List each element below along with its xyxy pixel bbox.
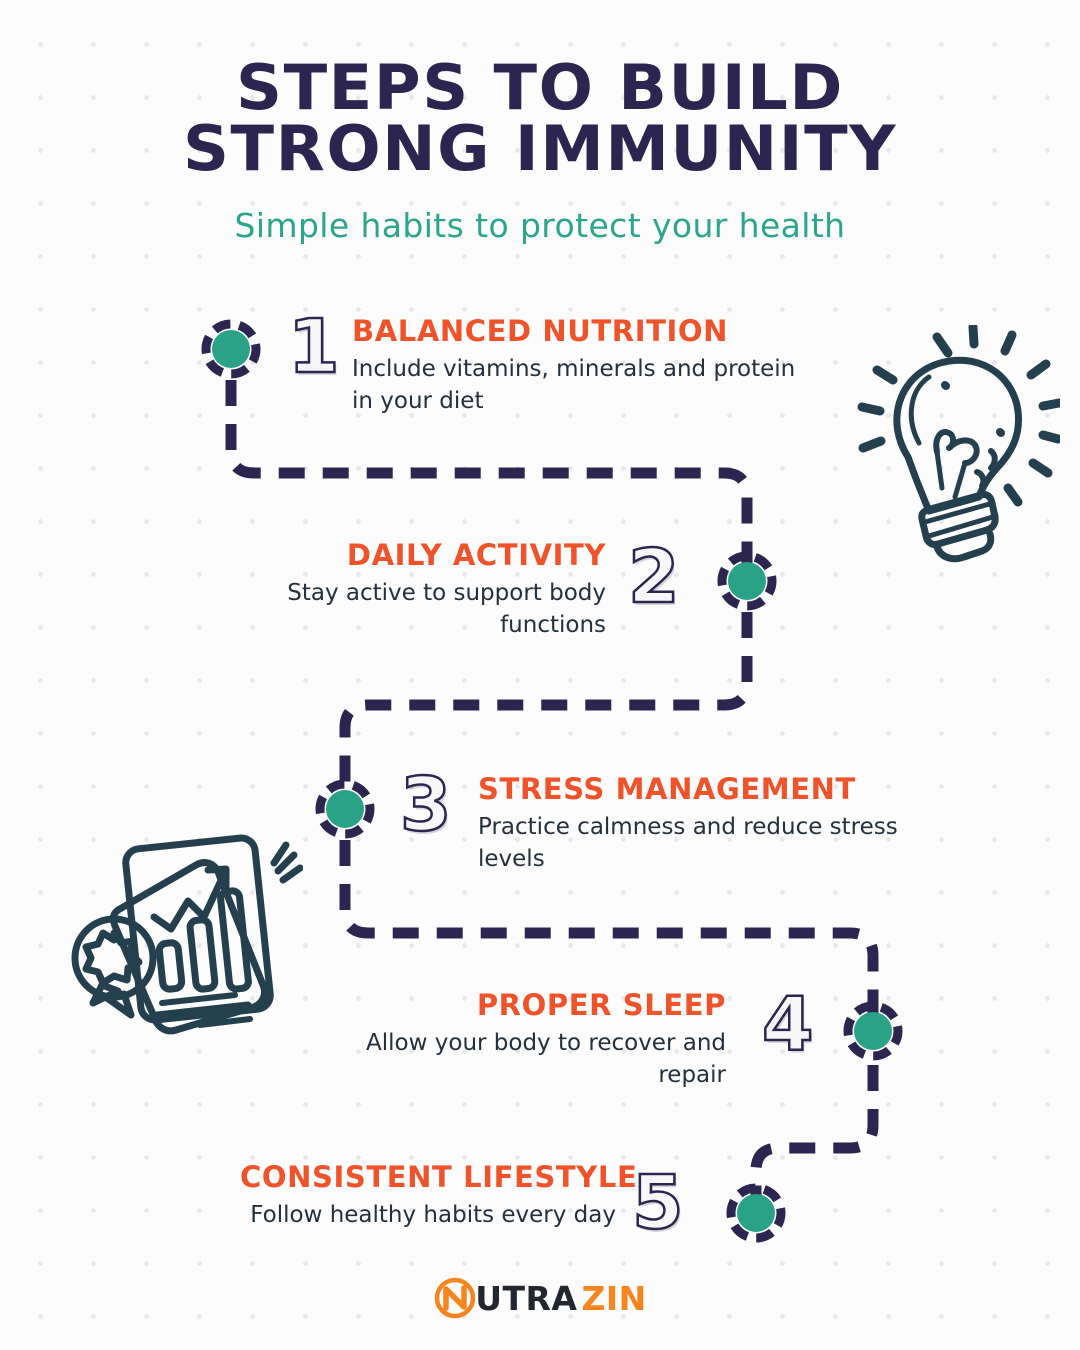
- step-marker-4[interactable]: [842, 1000, 904, 1062]
- logo-text-primary: UTRA: [475, 1279, 577, 1318]
- step-number-3: 3: [400, 768, 452, 842]
- step-marker-3[interactable]: [314, 778, 376, 840]
- step-description-2: Stay active to support body functions: [200, 578, 606, 641]
- step-text-2: DAILY ACTIVITY Stay active to support bo…: [200, 538, 606, 641]
- segment-4-5: [756, 1065, 873, 1196]
- step-description-1: Include vitamins, minerals and protein i…: [352, 354, 802, 417]
- marker-core: [326, 790, 364, 828]
- marker-core: [728, 562, 766, 600]
- step-heading-2: DAILY ACTIVITY: [200, 538, 606, 572]
- brand-logo: UTRA ZIN: [0, 1276, 1080, 1320]
- step-text-5: CONSISTENT LIFESTYLE Follow healthy habi…: [240, 1160, 616, 1232]
- step-number-1: 1: [288, 310, 340, 384]
- step-number-4: 4: [762, 988, 814, 1062]
- step-text-3: STRESS MANAGEMENT Practice calmness and …: [478, 772, 908, 875]
- report-chart-icon: [58, 825, 303, 1040]
- lightbulb-icon: [845, 325, 1060, 565]
- page-title: STEPS TO BUILD STRONG IMMUNITY: [0, 58, 1080, 180]
- report-chart-illustration: [58, 825, 303, 1040]
- poster-header: STEPS TO BUILD STRONG IMMUNITY Simple ha…: [0, 58, 1080, 245]
- step-marker-5[interactable]: [725, 1182, 787, 1244]
- step-marker-1[interactable]: [200, 318, 262, 380]
- step-heading-4: PROPER SLEEP: [320, 988, 726, 1022]
- step-description-4: Allow your body to recover and repair: [320, 1028, 726, 1091]
- marker-core: [212, 330, 250, 368]
- marker-core: [737, 1194, 775, 1232]
- step-text-1: BALANCED NUTRITION Include vitamins, min…: [352, 314, 802, 417]
- step-heading-5: CONSISTENT LIFESTYLE: [240, 1160, 616, 1194]
- step-marker-2[interactable]: [716, 550, 778, 612]
- lightbulb-illustration: [845, 325, 1060, 565]
- step-number-5: 5: [632, 1166, 684, 1240]
- title-line-2: STRONG IMMUNITY: [0, 119, 1080, 180]
- step-number-2: 2: [628, 540, 680, 614]
- step-description-5: Follow healthy habits every day: [240, 1200, 616, 1232]
- infographic-poster: STEPS TO BUILD STRONG IMMUNITY Simple ha…: [0, 0, 1080, 1350]
- title-line-1: STEPS TO BUILD: [0, 58, 1080, 119]
- step-text-4: PROPER SLEEP Allow your body to recover …: [320, 988, 726, 1091]
- step-description-3: Practice calmness and reduce stress leve…: [478, 812, 908, 875]
- nutrazin-n-mark-icon: [433, 1276, 477, 1320]
- page-subtitle: Simple habits to protect your health: [0, 206, 1080, 245]
- step-heading-1: BALANCED NUTRITION: [352, 314, 802, 348]
- logo-text-accent: ZIN: [581, 1279, 646, 1318]
- marker-core: [854, 1012, 892, 1050]
- step-heading-3: STRESS MANAGEMENT: [478, 772, 908, 806]
